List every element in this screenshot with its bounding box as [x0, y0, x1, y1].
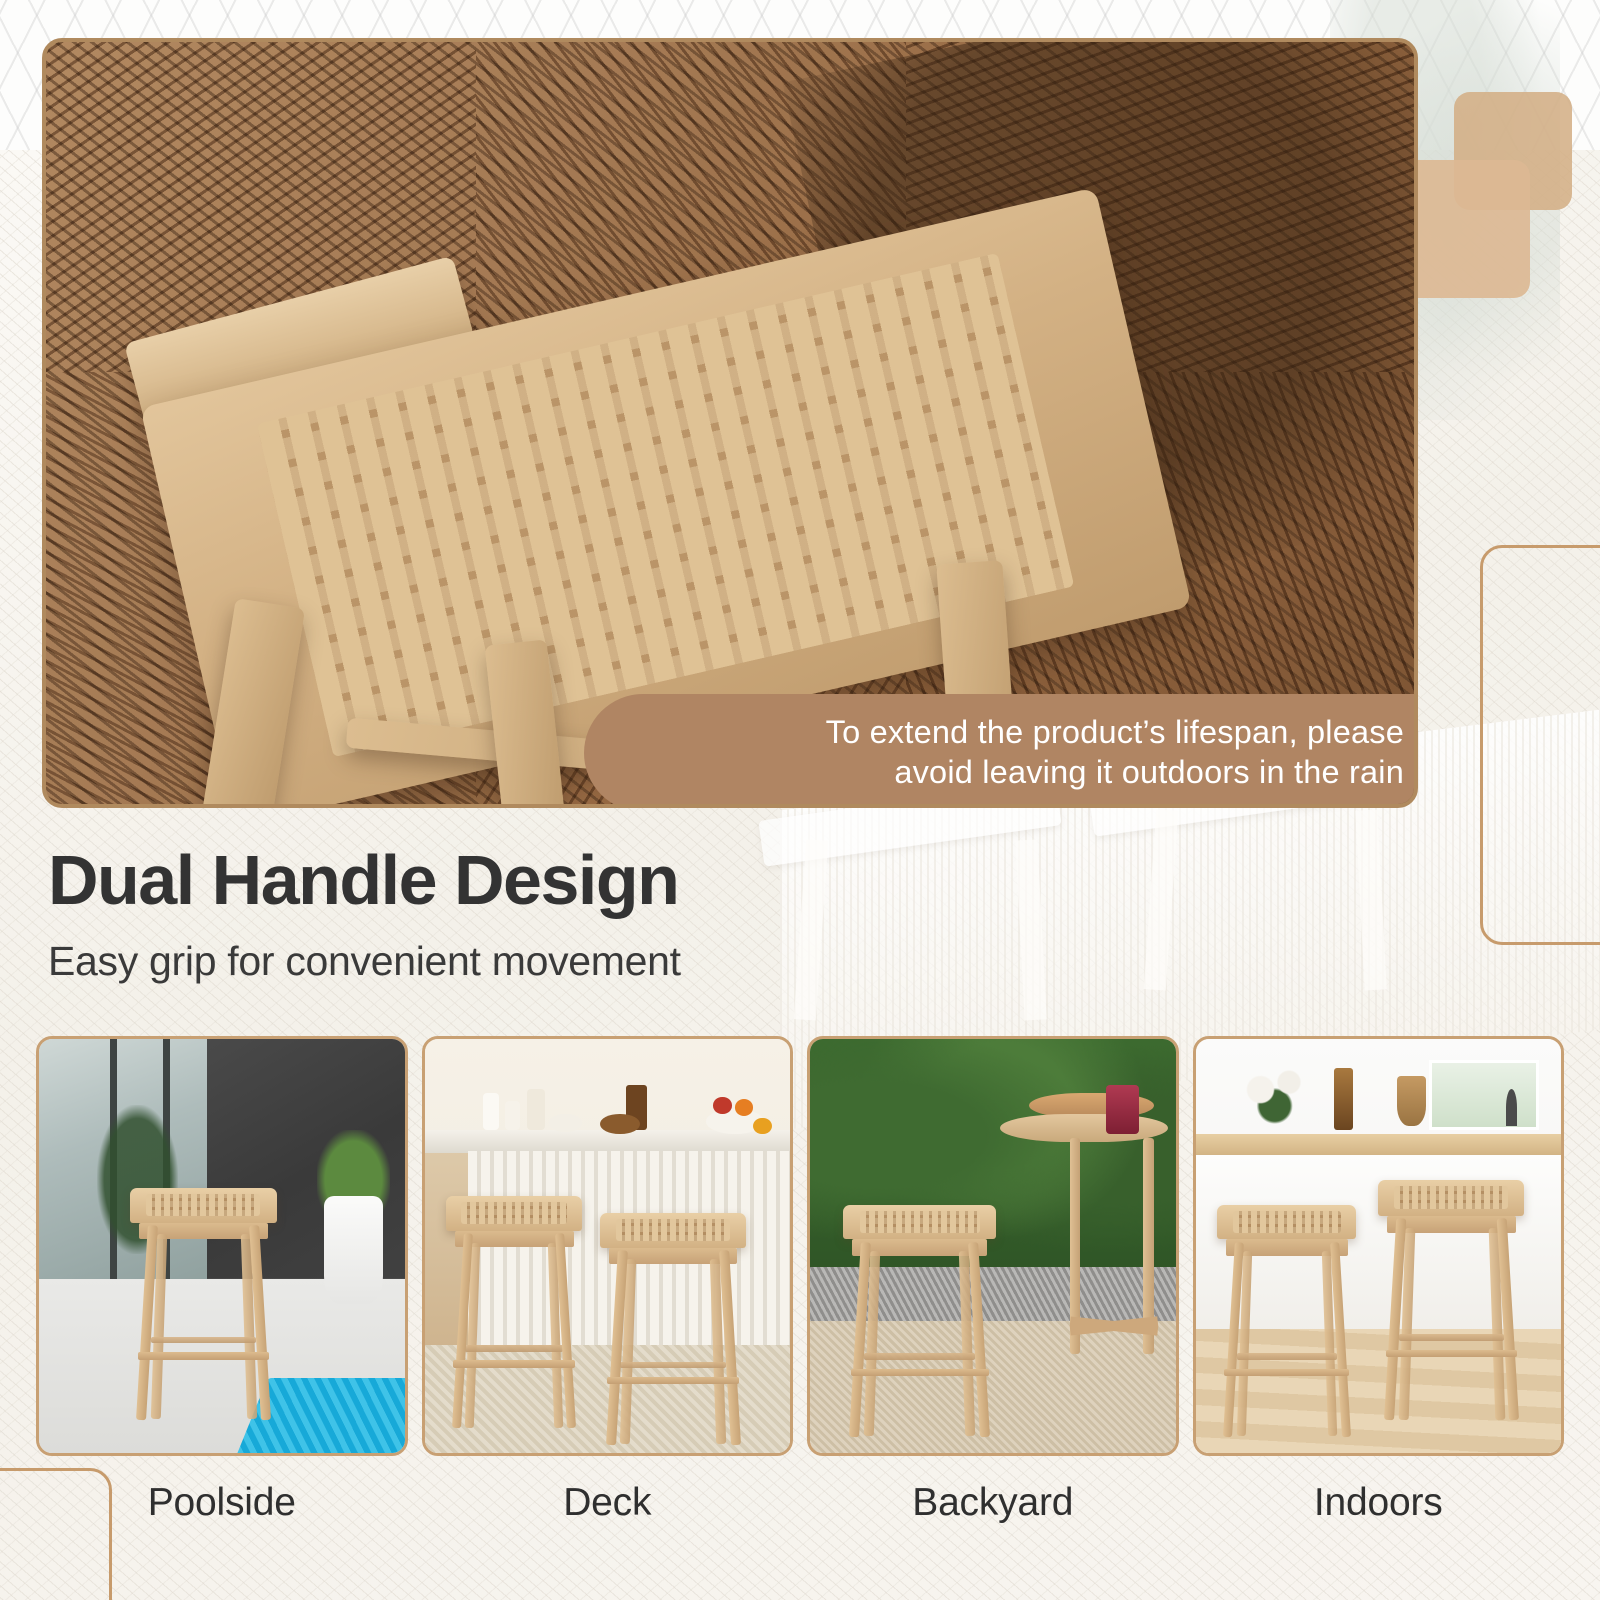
stool-stretcher: [620, 1362, 725, 1368]
backyard-scene: [810, 1039, 1176, 1453]
utensil-crock: [527, 1089, 545, 1130]
usage-scenario-gallery: [36, 1036, 1564, 1456]
stool-woven-surface: [1233, 1211, 1341, 1233]
flower-arrangement: [1232, 1060, 1327, 1135]
decorative-frame-right: [1480, 545, 1600, 945]
fruit-bowl-dark: [600, 1114, 640, 1135]
scenario-label-poolside: Poolside: [36, 1468, 408, 1538]
cutting-board: [1397, 1076, 1426, 1126]
fruit-orange: [753, 1118, 771, 1135]
indoors-scene: [1196, 1039, 1562, 1453]
kitchen-window: [1429, 1060, 1539, 1130]
counter-bowl: [549, 1114, 582, 1133]
scenario-labels-row: Poolside Deck Backyard Indoors: [36, 1468, 1564, 1538]
care-instruction-line-2: avoid leaving it outdoors in the rain: [826, 753, 1404, 793]
poolside-white-planter: [324, 1196, 382, 1304]
scenario-thumbnail-deck[interactable]: [422, 1036, 794, 1456]
stool-stretcher: [453, 1360, 575, 1367]
fruit-apple: [713, 1097, 731, 1114]
counter-bottle: [483, 1093, 499, 1130]
scenario-label-indoors: Indoors: [1193, 1468, 1565, 1538]
drink-pitcher: [1106, 1085, 1139, 1135]
stool-woven-surface: [860, 1211, 980, 1233]
fruit-orange: [735, 1099, 753, 1116]
headings-block: Dual Handle Design Easy grip for conveni…: [48, 845, 1148, 985]
stool-woven-surface: [146, 1194, 260, 1216]
stool-stretcher: [1386, 1350, 1518, 1358]
stool-stretcher: [465, 1345, 562, 1351]
scenario-thumbnail-poolside[interactable]: [36, 1036, 408, 1456]
scenario-label-deck: Deck: [422, 1468, 794, 1538]
stool-stretcher: [607, 1377, 739, 1384]
stool-woven-surface: [1394, 1186, 1508, 1209]
feature-title: Dual Handle Design: [48, 845, 1148, 916]
stool-stretcher: [1224, 1369, 1349, 1376]
stool-stretcher: [138, 1352, 270, 1359]
feature-subtitle: Easy grip for convenient movement: [48, 938, 1148, 985]
stool-woven-surface: [461, 1202, 566, 1224]
product-stool: [843, 1205, 997, 1437]
glass-bottle: [1334, 1068, 1352, 1130]
scenario-label-backyard: Backyard: [807, 1468, 1179, 1538]
care-instruction-banner: To extend the product’s lifespan, please…: [584, 694, 1418, 808]
counter-bottle: [505, 1101, 520, 1130]
product-stool: [600, 1213, 746, 1445]
poolside-scene: [39, 1039, 405, 1453]
kitchen-faucet: [1506, 1089, 1517, 1126]
product-stool: [446, 1196, 581, 1428]
deck-scene: [425, 1039, 791, 1453]
wood-countertop: [1196, 1134, 1562, 1155]
product-stool: [1378, 1180, 1524, 1420]
stool-stretcher: [1237, 1353, 1337, 1359]
stool-stretcher: [1399, 1334, 1504, 1341]
scenario-thumbnail-indoors[interactable]: [1193, 1036, 1565, 1456]
product-stool: [130, 1188, 276, 1420]
stool-stretcher: [151, 1337, 256, 1343]
stool-stretcher: [851, 1369, 989, 1376]
stool-stretcher: [864, 1353, 975, 1359]
hero-image: To extend the product’s lifespan, please…: [42, 38, 1418, 808]
scenario-thumbnail-backyard[interactable]: [807, 1036, 1179, 1456]
care-instruction-line-1: To extend the product’s lifespan, please: [826, 713, 1404, 753]
stool-woven-surface: [616, 1219, 730, 1241]
product-stool: [1217, 1205, 1356, 1437]
